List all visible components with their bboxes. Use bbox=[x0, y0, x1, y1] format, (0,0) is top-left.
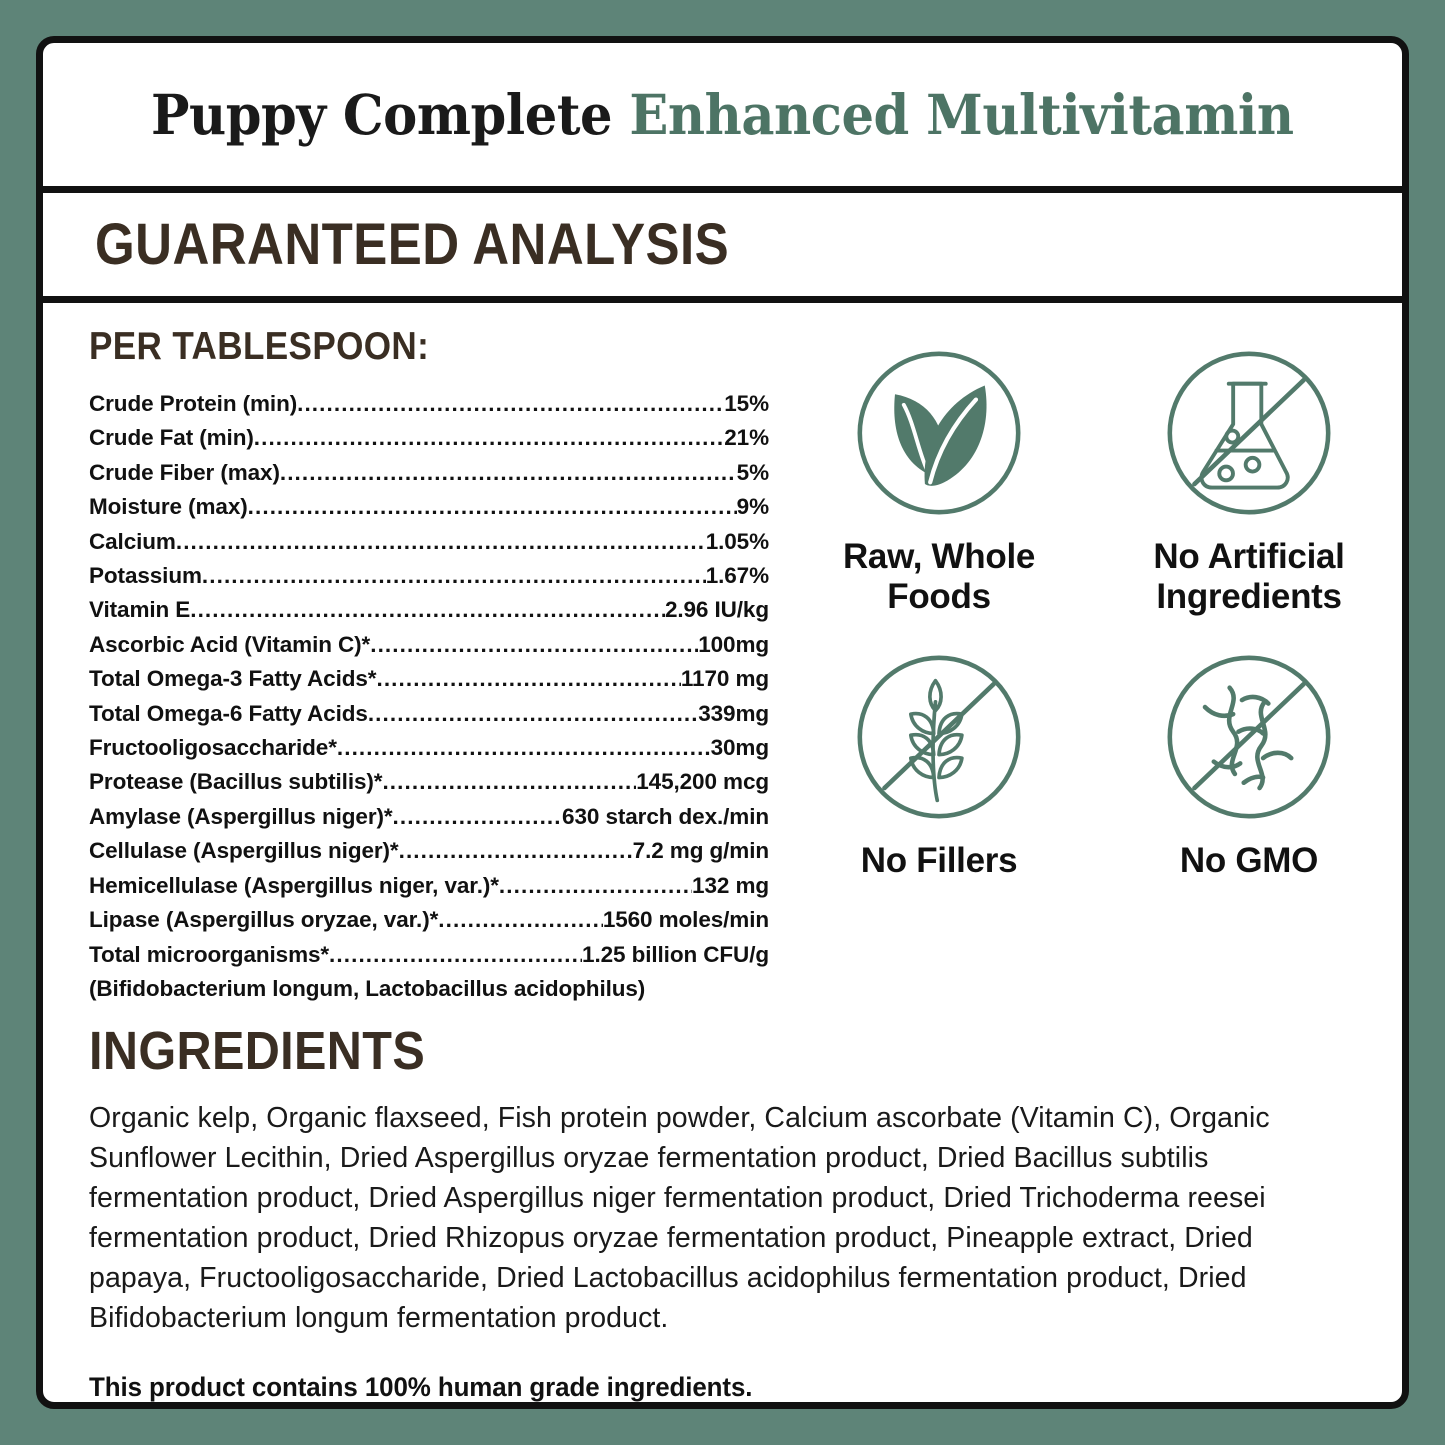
analysis-row: Moisture (max)..........................… bbox=[89, 490, 769, 524]
product-name: Puppy Complete bbox=[151, 82, 612, 147]
analysis-nutrient: Protease (Bacillus subtilis)* bbox=[89, 765, 382, 799]
analysis-row: Lipase (Aspergillus oryzae, var.)*......… bbox=[89, 903, 769, 937]
analysis-nutrient: Potassium bbox=[89, 559, 202, 593]
dot-leader: ........................................… bbox=[297, 387, 724, 421]
analysis-nutrient: Crude Protein (min) bbox=[89, 387, 297, 421]
analysis-amount: 5% bbox=[737, 456, 769, 490]
supplement-facts-label: Puppy Complete Enhanced Multivitamin GUA… bbox=[36, 36, 1409, 1409]
analysis-nutrient: Total microorganisms* bbox=[89, 938, 329, 972]
analysis-row: Crude Protein (min).....................… bbox=[89, 387, 769, 421]
analysis-nutrient: Cellulase (Aspergillus niger)* bbox=[89, 834, 399, 868]
no-dna-icon bbox=[1161, 649, 1337, 825]
dot-leader: ........................................… bbox=[393, 800, 563, 834]
no-wheat-icon bbox=[851, 649, 1027, 825]
upper-columns: PER TABLESPOON: Crude Protein (min).....… bbox=[89, 325, 1356, 1006]
analysis-row: Ascorbic Acid (Vitamin C)*..............… bbox=[89, 628, 769, 662]
analysis-row: Crude Fiber (max).......................… bbox=[89, 456, 769, 490]
ingredients-heading: INGREDIENTS bbox=[89, 1020, 1229, 1082]
analysis-row: Potassium...............................… bbox=[89, 559, 769, 593]
analysis-nutrient: Crude Fiber (max) bbox=[89, 456, 280, 490]
dot-leader: ........................................… bbox=[329, 938, 582, 972]
dot-leader: ........................................… bbox=[376, 662, 680, 696]
analysis-nutrient: Vitamin E bbox=[89, 593, 190, 627]
dot-leader: ........................................… bbox=[382, 765, 636, 799]
analysis-row: Total microorganisms*...................… bbox=[89, 938, 769, 972]
analysis-nutrient: Total Omega-3 Fatty Acids* bbox=[89, 662, 376, 696]
badge-raw-whole-foods: Raw, WholeFoods bbox=[789, 345, 1089, 617]
dot-leader: ........................................… bbox=[499, 869, 692, 903]
badge-no-artificial-ingredients: No ArtificialIngredients bbox=[1099, 345, 1399, 617]
badge-label: No GMO bbox=[1180, 841, 1318, 881]
analysis-amount: 7.2 mg g/min bbox=[633, 834, 769, 868]
analysis-row: Total Omega-3 Fatty Acids*..............… bbox=[89, 662, 769, 696]
dot-leader: ........................................… bbox=[254, 421, 725, 455]
dot-leader: ........................................… bbox=[368, 697, 698, 731]
analysis-amount: 145,200 mcg bbox=[636, 765, 769, 799]
analysis-nutrient: Crude Fat (min) bbox=[89, 421, 254, 455]
analysis-row: Vitamin E...............................… bbox=[89, 593, 769, 627]
human-grade-statement: This product contains 100% human grade i… bbox=[89, 1372, 1305, 1403]
ingredients-body: Organic kelp, Organic flaxseed, Fish pro… bbox=[89, 1098, 1356, 1338]
analysis-amount: 1.67% bbox=[706, 559, 769, 593]
analysis-nutrient: Moisture (max) bbox=[89, 490, 248, 524]
page-title: Puppy Complete Enhanced Multivitamin bbox=[151, 82, 1294, 147]
analysis-nutrient: Amylase (Aspergillus niger)* bbox=[89, 800, 393, 834]
per-tablespoon-heading: PER TABLESPOON: bbox=[89, 325, 701, 369]
analysis-row: Fructooligosaccharide*..................… bbox=[89, 731, 769, 765]
analysis-row: Total Omega-6 Fatty Acids...............… bbox=[89, 697, 769, 731]
analysis-amount: 132 mg bbox=[692, 869, 769, 903]
product-subname: Enhanced Multivitamin bbox=[630, 82, 1294, 147]
analysis-amount: 9% bbox=[737, 490, 769, 524]
badge-label: No ArtificialIngredients bbox=[1153, 537, 1344, 617]
dot-leader: ........................................… bbox=[176, 525, 706, 559]
analysis-amount: 630 starch dex./min bbox=[562, 800, 769, 834]
analysis-column: PER TABLESPOON: Crude Protein (min).....… bbox=[89, 325, 769, 1006]
analysis-nutrient: Hemicellulase (Aspergillus niger, var.)* bbox=[89, 869, 499, 903]
badge-no-gmo: No GMO bbox=[1099, 649, 1399, 881]
badge-no-fillers: No Fillers bbox=[789, 649, 1089, 881]
badge-label: No Fillers bbox=[861, 841, 1017, 881]
dot-leader: ........................................… bbox=[280, 456, 737, 490]
analysis-footnote: (Bifidobacterium longum, Lactobacillus a… bbox=[89, 972, 769, 1006]
analysis-row: Calcium.................................… bbox=[89, 525, 769, 559]
analysis-nutrient: Ascorbic Acid (Vitamin C)* bbox=[89, 628, 370, 662]
analysis-amount: 1.05% bbox=[706, 525, 769, 559]
guaranteed-analysis-heading: GUARANTEED ANALYSIS bbox=[95, 211, 729, 278]
dot-leader: ........................................… bbox=[248, 490, 737, 524]
analysis-nutrient: Calcium bbox=[89, 525, 176, 559]
analysis-nutrient: Total Omega-6 Fatty Acids bbox=[89, 697, 368, 731]
analysis-row: Amylase (Aspergillus niger)*............… bbox=[89, 800, 769, 834]
dot-leader: ........................................… bbox=[202, 559, 706, 593]
analysis-amount: 1170 mg bbox=[681, 662, 769, 696]
analysis-amount: 1560 moles/min bbox=[603, 903, 769, 937]
guaranteed-analysis-band: GUARANTEED ANALYSIS bbox=[43, 193, 1402, 303]
analysis-amount: 100mg bbox=[698, 628, 769, 662]
analysis-amount: 30mg bbox=[711, 731, 769, 765]
badge-grid: Raw, WholeFoods bbox=[789, 345, 1399, 881]
analysis-nutrient: Lipase (Aspergillus oryzae, var.)* bbox=[89, 903, 438, 937]
dot-leader: ........................................… bbox=[337, 731, 711, 765]
analysis-amount: 15% bbox=[724, 387, 769, 421]
dot-leader: ........................................… bbox=[370, 628, 698, 662]
analysis-row: Cellulase (Aspergillus niger)*..........… bbox=[89, 834, 769, 868]
analysis-list: Crude Protein (min).....................… bbox=[89, 387, 769, 972]
analysis-amount: 1.25 billion CFU/g bbox=[582, 938, 769, 972]
badges-column: Raw, WholeFoods bbox=[769, 325, 1399, 881]
title-band: Puppy Complete Enhanced Multivitamin bbox=[43, 43, 1402, 193]
analysis-amount: 21% bbox=[724, 421, 769, 455]
analysis-nutrient: Fructooligosaccharide* bbox=[89, 731, 337, 765]
leaves-icon bbox=[851, 345, 1027, 521]
label-body: PER TABLESPOON: Crude Protein (min).....… bbox=[43, 303, 1402, 1403]
analysis-amount: 339mg bbox=[698, 697, 769, 731]
dot-leader: ........................................… bbox=[399, 834, 633, 868]
analysis-amount: 2.96 IU/kg bbox=[665, 593, 769, 627]
no-flask-icon bbox=[1161, 345, 1337, 521]
analysis-row: Hemicellulase (Aspergillus niger, var.)*… bbox=[89, 869, 769, 903]
analysis-row: Protease (Bacillus subtilis)*...........… bbox=[89, 765, 769, 799]
badge-label: Raw, WholeFoods bbox=[843, 537, 1035, 617]
dot-leader: ........................................… bbox=[190, 593, 665, 627]
dot-leader: ........................................… bbox=[438, 903, 603, 937]
analysis-row: Crude Fat (min).........................… bbox=[89, 421, 769, 455]
